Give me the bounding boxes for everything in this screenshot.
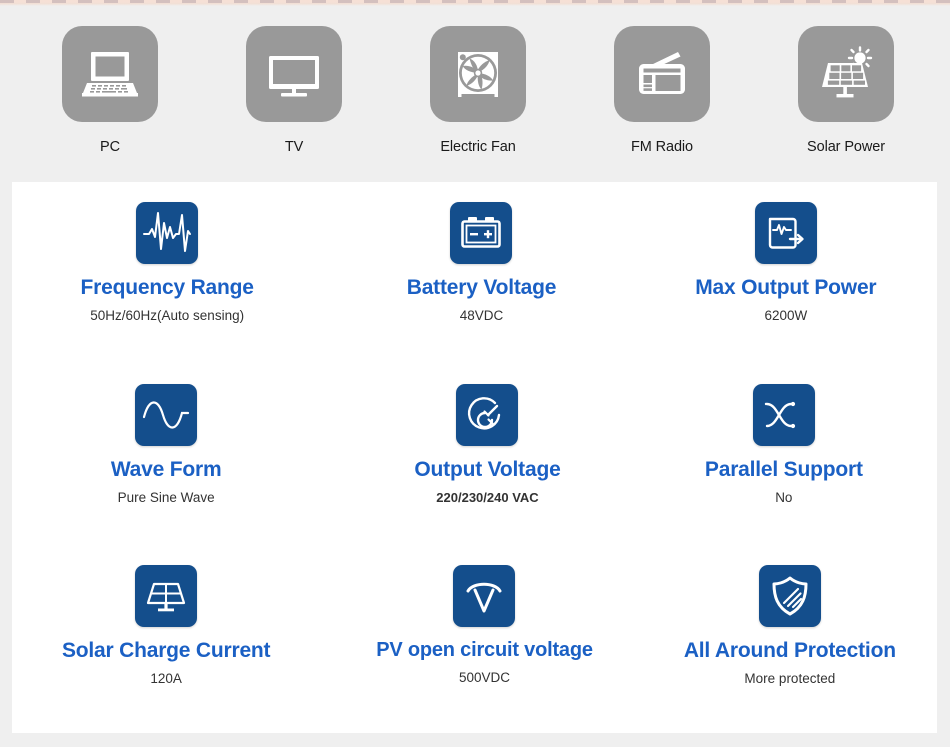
spec-value: No — [775, 490, 792, 505]
shield-icon — [759, 565, 821, 627]
voltmeter-v-icon — [453, 565, 515, 627]
spec-value: 48VDC — [460, 308, 504, 323]
spec-title: Output Voltage — [414, 458, 560, 482]
spec-item-output-voltage: Output Voltage 220/230/240 VAC — [320, 370, 628, 552]
spec-item-max-output-power: Max Output Power 6200W — [629, 188, 937, 370]
spec-value: 6200W — [764, 308, 807, 323]
appliance-label: TV — [285, 139, 303, 155]
appliance-label: Solar Power — [807, 139, 885, 155]
solar-panel-icon — [798, 26, 894, 122]
appliance-item-electric-fan: Electric Fan — [386, 8, 570, 155]
spec-item-battery-voltage: Battery Voltage 48VDC — [320, 188, 628, 370]
spec-title: Max Output Power — [695, 276, 876, 300]
spec-value: More protected — [744, 671, 835, 686]
appliance-strip: PC TV — [0, 8, 950, 173]
specification-panel: Frequency Range 50Hz/60Hz(Auto sensing) … — [12, 182, 937, 733]
spec-title: Parallel Support — [705, 458, 863, 482]
waveform-ecg-icon — [136, 202, 198, 264]
spec-value: 220/230/240 VAC — [436, 490, 538, 505]
plug-circle-icon — [456, 384, 518, 446]
spec-value: Pure Sine Wave — [118, 490, 215, 505]
spec-item-pv-open-circuit-voltage: PV open circuit voltage 500VDC — [320, 551, 628, 733]
radio-icon — [614, 26, 710, 122]
spec-title: All Around Protection — [684, 639, 896, 663]
spec-item-frequency-range: Frequency Range 50Hz/60Hz(Auto sensing) — [12, 188, 320, 370]
spec-item-solar-charge-current: Solar Charge Current 120A — [12, 551, 320, 733]
sine-wave-icon — [135, 384, 197, 446]
spec-title: Battery Voltage — [407, 276, 557, 300]
appliance-item-fm-radio: FM Radio — [570, 8, 754, 155]
spec-title: Solar Charge Current — [62, 639, 270, 663]
appliance-item-pc: PC — [18, 8, 202, 155]
spec-value: 500VDC — [459, 670, 510, 685]
tv-icon — [246, 26, 342, 122]
spec-title: Wave Form — [111, 458, 222, 482]
laptop-icon — [62, 26, 158, 122]
top-banner-sliver — [0, 0, 950, 6]
appliance-item-tv: TV — [202, 8, 386, 155]
spec-title: PV open circuit voltage — [376, 639, 593, 662]
spec-item-wave-form: Wave Form Pure Sine Wave — [12, 370, 320, 552]
appliance-label: PC — [100, 139, 120, 155]
specification-grid: Frequency Range 50Hz/60Hz(Auto sensing) … — [12, 182, 937, 733]
spec-item-parallel-support: Parallel Support No — [629, 370, 937, 552]
appliance-item-solar-power: Solar Power — [754, 8, 938, 155]
dashed-divider — [0, 0, 950, 3]
spec-value: 120A — [150, 671, 182, 686]
spec-value: 50Hz/60Hz(Auto sensing) — [90, 308, 244, 323]
spec-title: Frequency Range — [81, 276, 254, 300]
crossing-paths-icon — [753, 384, 815, 446]
spec-item-all-around-protection: All Around Protection More protected — [629, 551, 937, 733]
battery-icon — [450, 202, 512, 264]
appliance-label: Electric Fan — [440, 139, 515, 155]
fan-icon — [430, 26, 526, 122]
solar-panel-icon — [135, 565, 197, 627]
appliance-label: FM Radio — [631, 139, 693, 155]
power-output-icon — [755, 202, 817, 264]
